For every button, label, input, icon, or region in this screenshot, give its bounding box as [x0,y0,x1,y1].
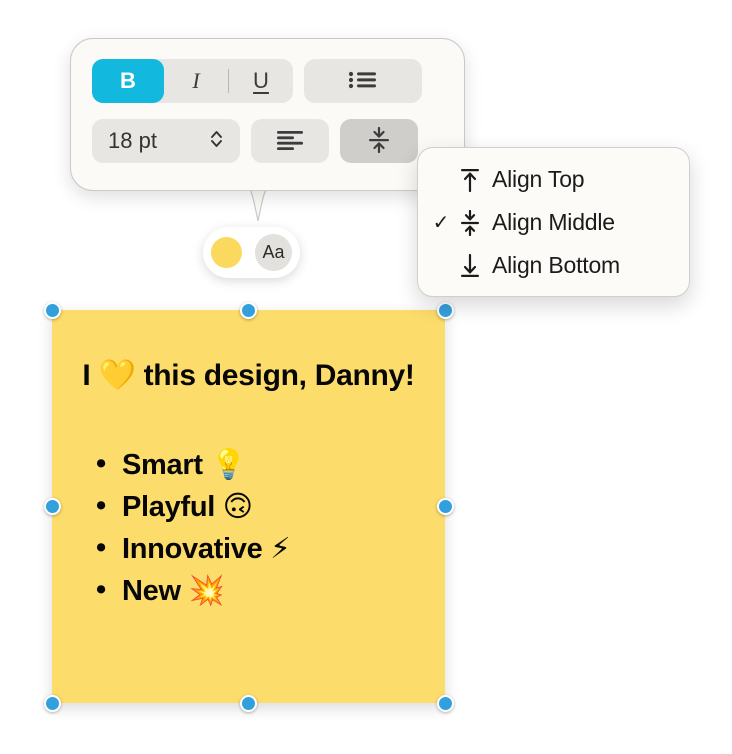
underline-button[interactable]: U [229,59,293,103]
vertical-align-menu: Align Top ✓ Align Middle [417,147,690,297]
list-item: • Playful 🙃 [94,486,425,528]
bullet-marker: • [96,528,106,569]
text-style-button[interactable]: Aa [255,234,292,271]
list-item: • New 💥 [94,570,425,612]
sticky-note[interactable]: I 💛 this design, Danny! • Smart 💡 • Play… [52,310,445,703]
handle-bottom-center[interactable] [240,695,257,712]
vertical-align-group [340,119,418,163]
list-item-label: Smart [122,449,203,481]
align-middle-icon [454,210,486,236]
toolbar-row-layout: 18 pt [92,119,418,163]
align-bottom-icon [454,253,486,279]
handle-top-left[interactable] [44,302,61,319]
list-item-label: New [122,575,181,607]
menu-item-label: Align Bottom [492,252,620,279]
font-size-value: 18 pt [108,128,157,154]
bullet-marker: • [96,444,106,485]
list-item: • Smart 💡 [94,444,425,486]
canvas: I 💛 this design, Danny! • Smart 💡 • Play… [0,0,732,754]
bulleted-list-icon [348,70,378,93]
lightbulb-icon: 💡 [210,447,246,481]
lightning-bolt-icon: ⚡ [270,531,290,565]
text-style-group: B I U [92,59,293,103]
align-top-icon [454,167,486,193]
align-left-icon [275,129,305,154]
handle-bottom-left[interactable] [44,695,61,712]
color-swatch-button[interactable] [211,237,242,268]
menu-item-label: Align Top [492,166,584,193]
align-middle-icon [365,126,393,157]
font-size-stepper[interactable]: 18 pt [92,119,240,163]
handle-middle-left[interactable] [44,498,61,515]
list-item-label: Innovative [122,533,262,565]
handle-bottom-right[interactable] [437,695,454,712]
align-left-button[interactable] [251,119,329,163]
note-heading-prefix: I [82,359,98,392]
menu-item-align-bottom[interactable]: Align Bottom [418,244,689,287]
menu-item-label: Align Middle [492,209,615,236]
style-pill: Aa [203,227,300,278]
note-bullet-list: • Smart 💡 • Playful 🙃 • Innovative ⚡ • N… [72,444,425,613]
list-item-label: Playful [122,491,215,523]
text-align-group [251,119,329,163]
bullet-marker: • [96,486,106,527]
checkmark-icon: ✓ [428,210,454,235]
bold-button[interactable]: B [92,59,164,103]
menu-item-align-middle[interactable]: ✓ Align Middle [418,201,689,244]
bulleted-list-button[interactable] [304,59,422,103]
handle-top-center[interactable] [240,302,257,319]
toolbar-row-style: B I U [92,59,422,103]
collision-icon: 💥 [189,573,225,607]
menu-item-align-top[interactable]: Align Top [418,158,689,201]
italic-button[interactable]: I [164,59,228,103]
note-heading-rest: this design, Danny! [136,359,415,392]
handle-top-right[interactable] [437,302,454,319]
handle-middle-right[interactable] [437,498,454,515]
up-down-chevron-icon[interactable] [209,128,224,155]
align-middle-button[interactable] [340,119,418,163]
bullet-marker: • [96,570,106,611]
upside-down-face-icon: 🙃 [223,489,253,523]
note-heading: I 💛 this design, Danny! [80,356,417,396]
format-toolbar: B I U [70,38,465,191]
list-group [304,59,422,103]
list-item: • Innovative ⚡ [94,528,425,570]
yellow-heart-icon: 💛 [98,358,135,393]
note-text-content[interactable]: I 💛 this design, Danny! • Smart 💡 • Play… [52,356,445,613]
